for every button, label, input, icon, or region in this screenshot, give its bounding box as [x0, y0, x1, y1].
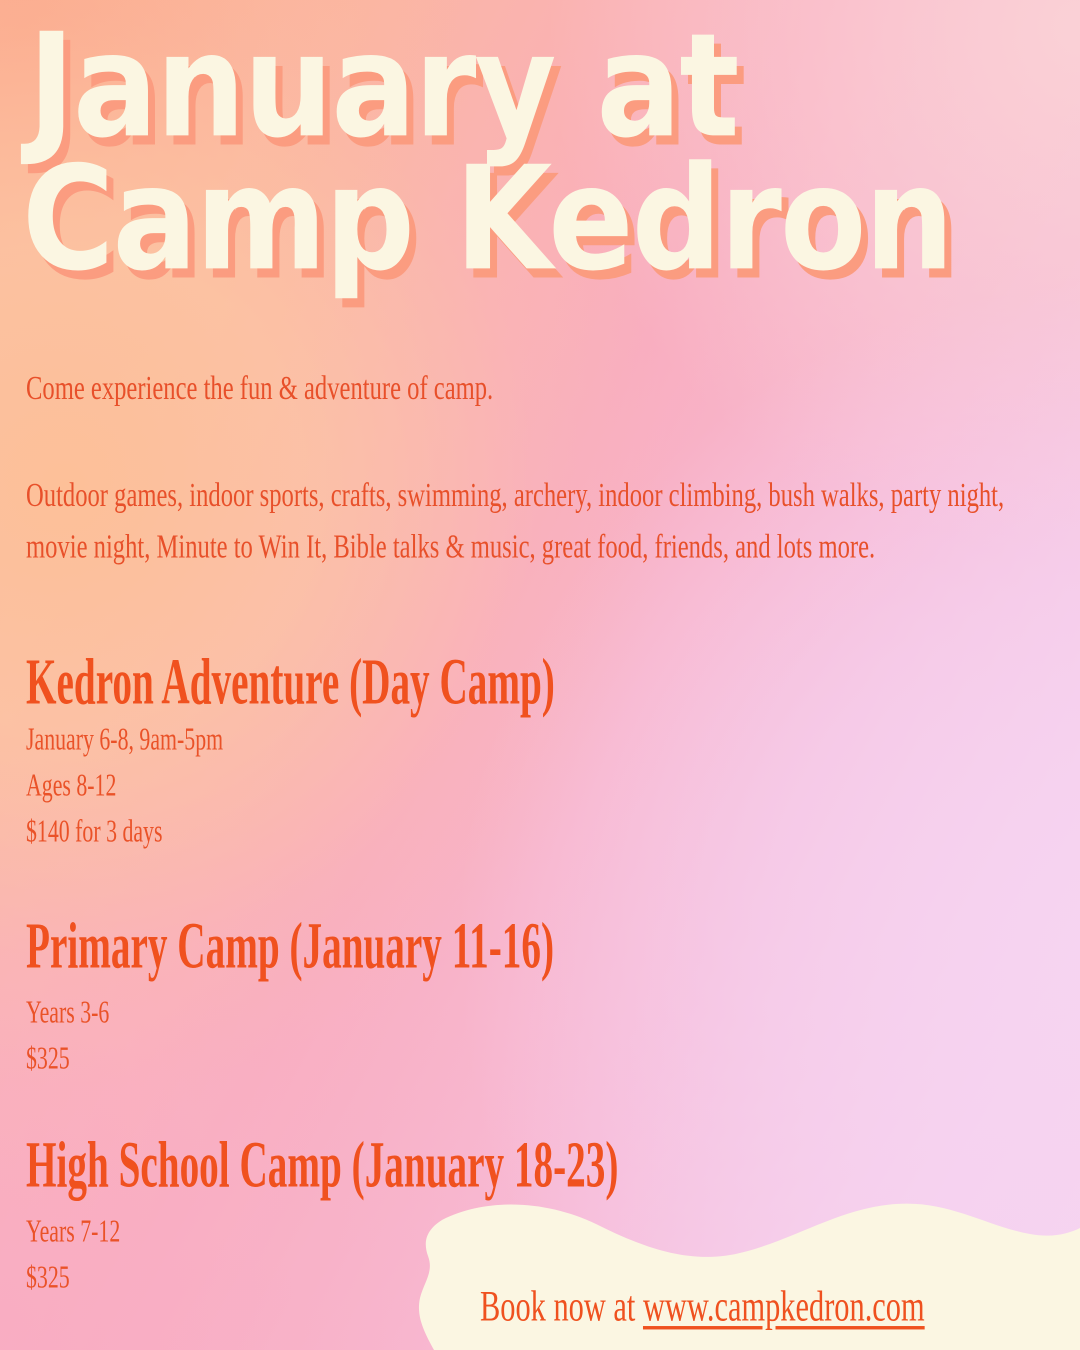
section-detail-dates: January 6-8, 9am-5pm	[26, 725, 780, 756]
booking-call-to-action: Book now at www.campkedron.com	[480, 1285, 925, 1328]
poster-body: Come experience the fun & adventure of c…	[26, 372, 1036, 561]
camp-section-kedron-adventure: Kedron Adventure (Day Camp) January 6-8,…	[26, 649, 782, 705]
camp-section-high-school-camp: High School Camp (January 18-23) Years 7…	[26, 1132, 872, 1188]
intro-tagline: Come experience the fun & adventure of c…	[26, 372, 1036, 406]
section-heading: High School Camp (January 18-23)	[26, 1132, 873, 1198]
poster-canvas: January at Camp Kedron Come experience t…	[0, 0, 1080, 1350]
section-detail-price: $140 for 3 days	[26, 817, 780, 848]
camp-section-primary-camp: Primary Camp (January 11-16) Years 3-6 $…	[26, 913, 780, 969]
title-line-camp-kedron: Camp Kedron	[22, 151, 1072, 289]
section-detail-years: Years 3-6	[26, 998, 779, 1029]
section-detail-ages: Ages 8-12	[26, 771, 780, 802]
section-detail-years: Years 7-12	[26, 1217, 871, 1248]
section-detail-price: $325	[26, 1044, 779, 1075]
cta-prefix-label: Book now at	[480, 1283, 643, 1331]
cta-website-link[interactable]: www.campkedron.com	[643, 1283, 925, 1331]
poster-title: January at Camp Kedron	[22, 18, 1072, 272]
section-heading: Kedron Adventure (Day Camp)	[26, 649, 782, 715]
section-heading: Primary Camp (January 11-16)	[26, 913, 781, 979]
activities-blurb: Outdoor games, indoor sports, crafts, sw…	[26, 470, 1036, 572]
